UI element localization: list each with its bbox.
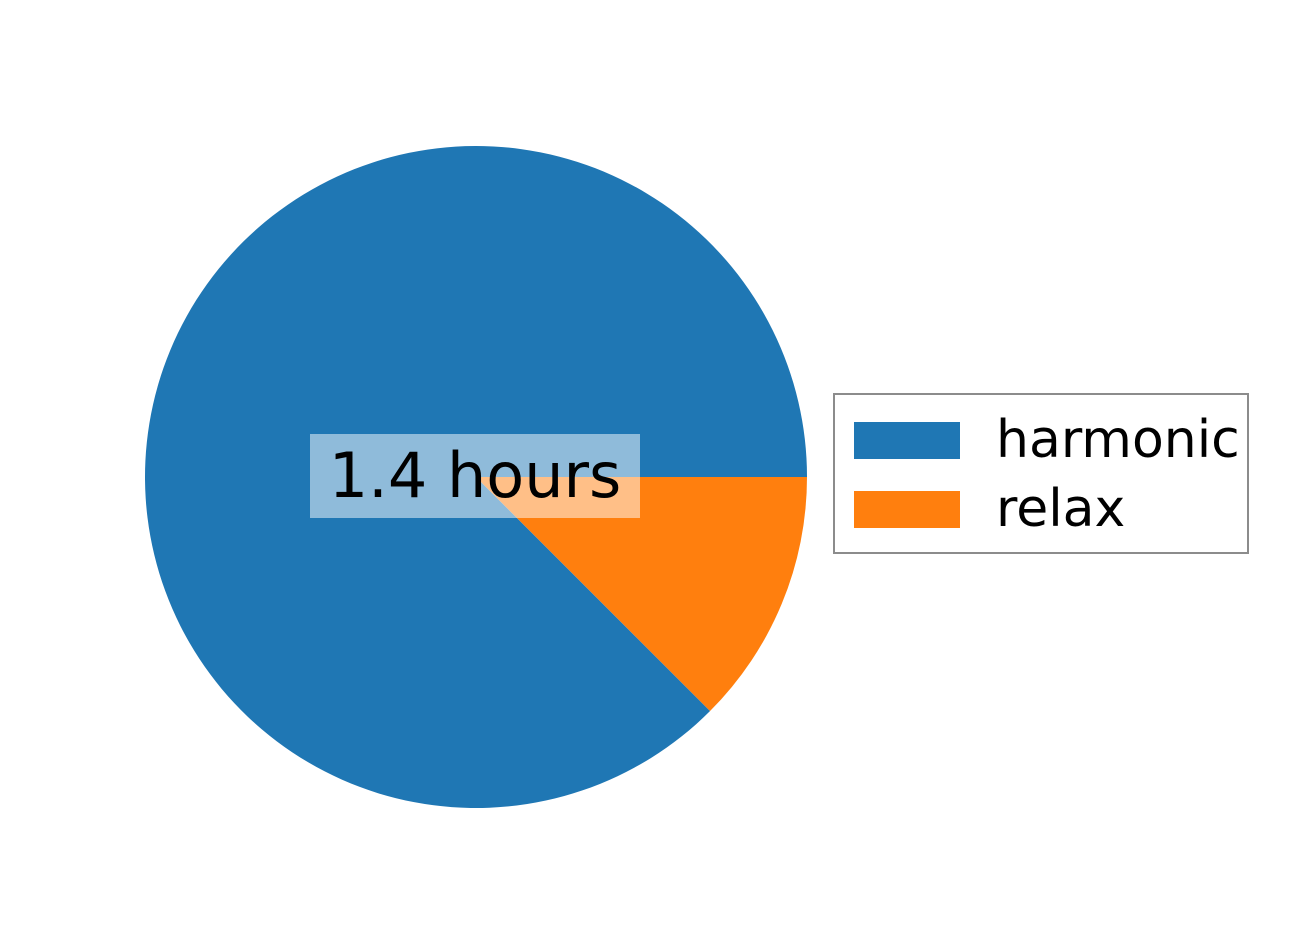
legend-item-relax[interactable]: relax [835,477,1247,541]
legend-item-harmonic[interactable]: harmonic [835,408,1247,472]
chart-legend: harmonic relax [833,393,1249,554]
figure-canvas: 1.4 hours harmonic relax [0,0,1307,951]
legend-label-relax: relax [996,477,1125,541]
pie-wedge-label-harmonic: 1.4 hours [310,434,640,518]
legend-label-harmonic: harmonic [996,408,1240,472]
legend-swatch-harmonic [854,422,960,459]
legend-swatch-relax [854,491,960,528]
